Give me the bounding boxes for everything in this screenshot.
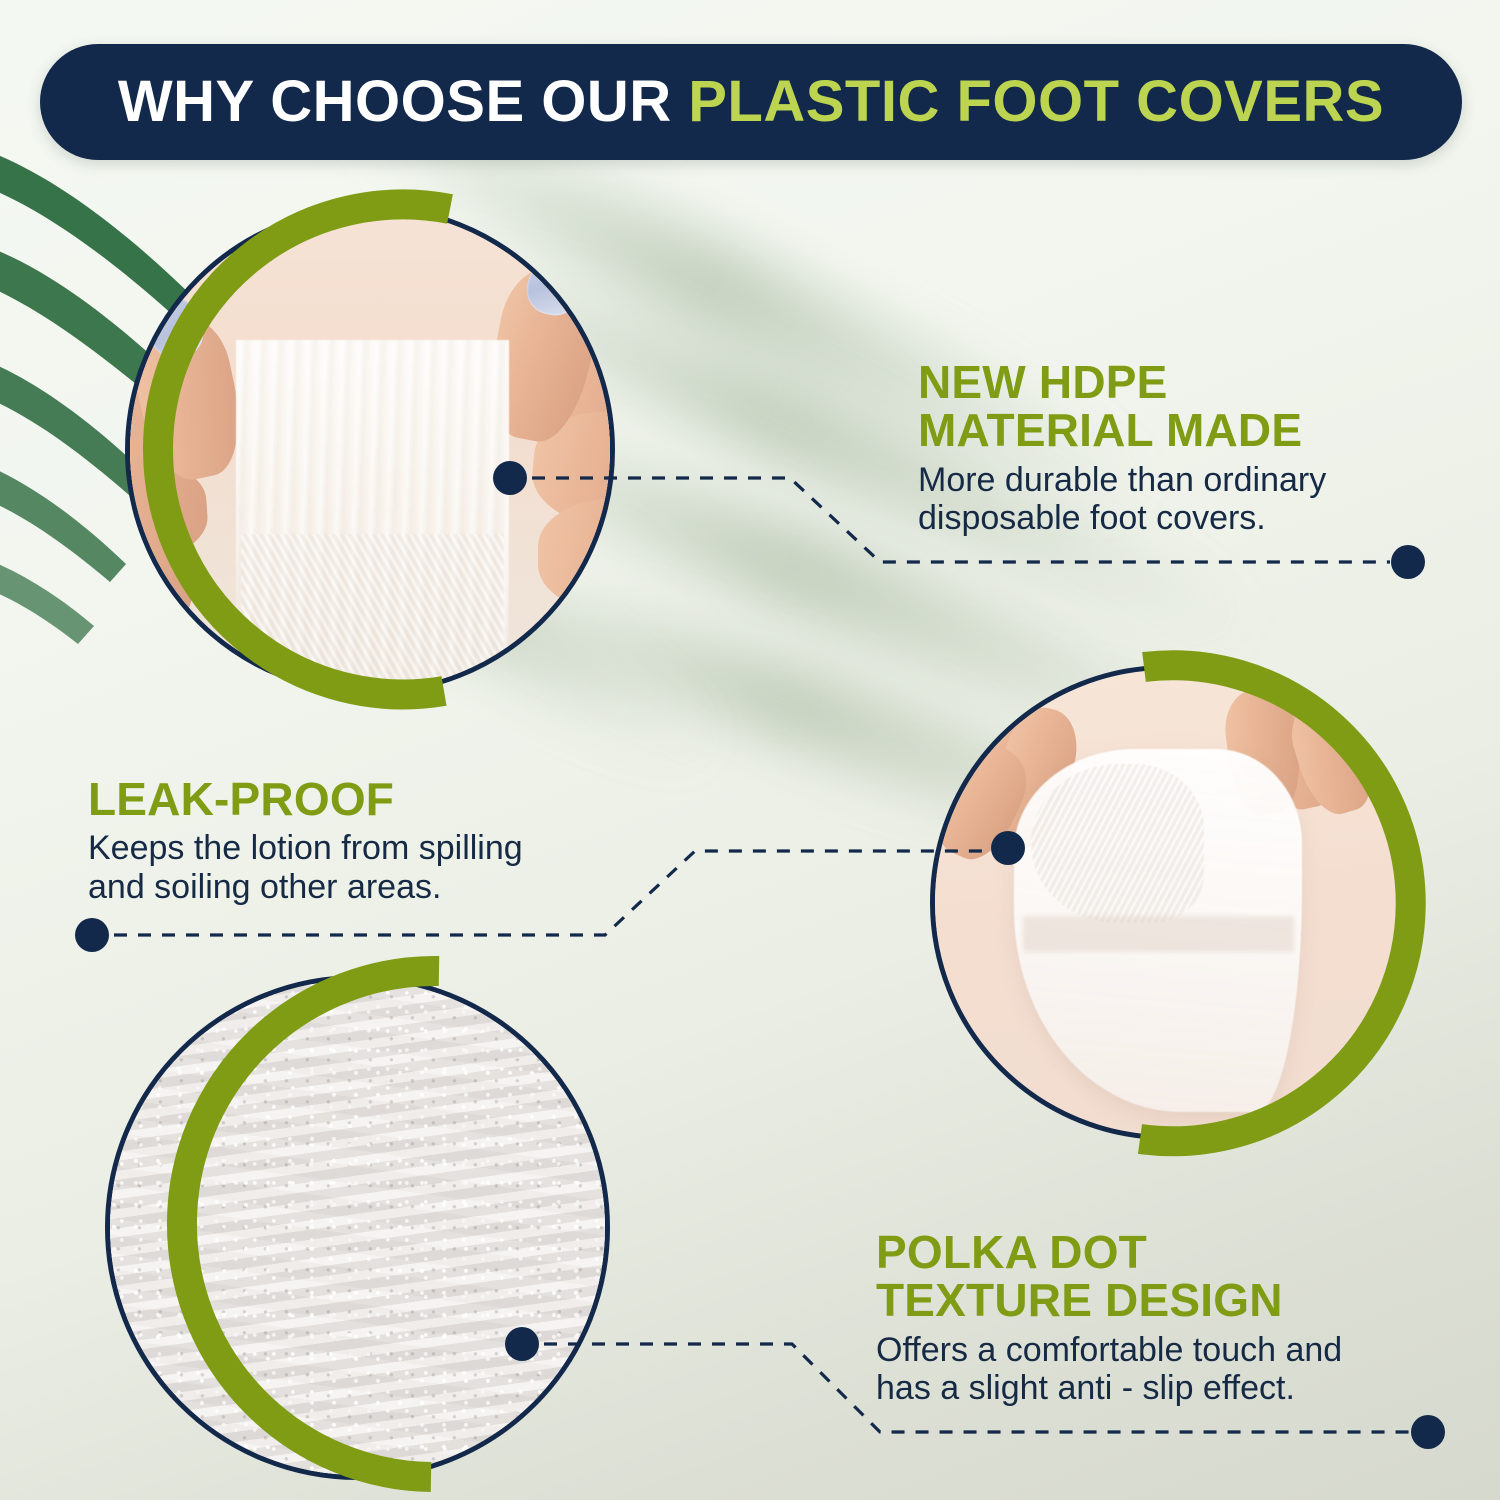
connector-dot-start-2	[75, 918, 109, 952]
feature-text-polka-dot-texture-design: POLKA DOT TEXTURE DESIGN Offers a comfor…	[876, 1228, 1436, 1408]
feature-body-2: Keeps the lotion from spilling and soili…	[88, 829, 628, 907]
feature-heading-2: LEAK-PROOF	[88, 775, 628, 823]
connector-dot-end-3	[1411, 1415, 1445, 1449]
page-title-part2: PLASTIC FOOT COVERS	[688, 69, 1384, 134]
connector-dot-end-1	[1391, 545, 1425, 579]
infographic-canvas: WHY CHOOSE OUR PLASTIC FOOT COVERS	[0, 0, 1500, 1500]
feature-image-leak-proof	[930, 665, 1405, 1140]
feature-image-new-hdpe-material-made	[125, 205, 615, 695]
page-title-bar: WHY CHOOSE OUR PLASTIC FOOT COVERS	[40, 44, 1462, 160]
feature-heading-1: NEW HDPE MATERIAL MADE	[918, 358, 1438, 455]
photo-polka-dot-texture	[105, 975, 610, 1480]
feature-heading-3: POLKA DOT TEXTURE DESIGN	[876, 1228, 1436, 1325]
feature-text-new-hdpe-material-made: NEW HDPE MATERIAL MADE More durable than…	[918, 358, 1438, 538]
page-title: WHY CHOOSE OUR PLASTIC FOOT COVERS	[118, 73, 1384, 131]
feature-body-1: More durable than ordinary disposable fo…	[918, 461, 1438, 539]
page-title-part1: WHY CHOOSE OUR	[118, 69, 688, 134]
photo-hands-holding-plastic-sheet	[125, 205, 615, 695]
feature-text-leak-proof: LEAK-PROOF Keeps the lotion from spillin…	[88, 775, 628, 907]
photo-hands-stretching-foot-cover	[930, 665, 1405, 1140]
feature-body-3: Offers a comfortable touch and has a sli…	[876, 1331, 1436, 1409]
feature-image-polka-dot-texture-design	[105, 975, 610, 1480]
